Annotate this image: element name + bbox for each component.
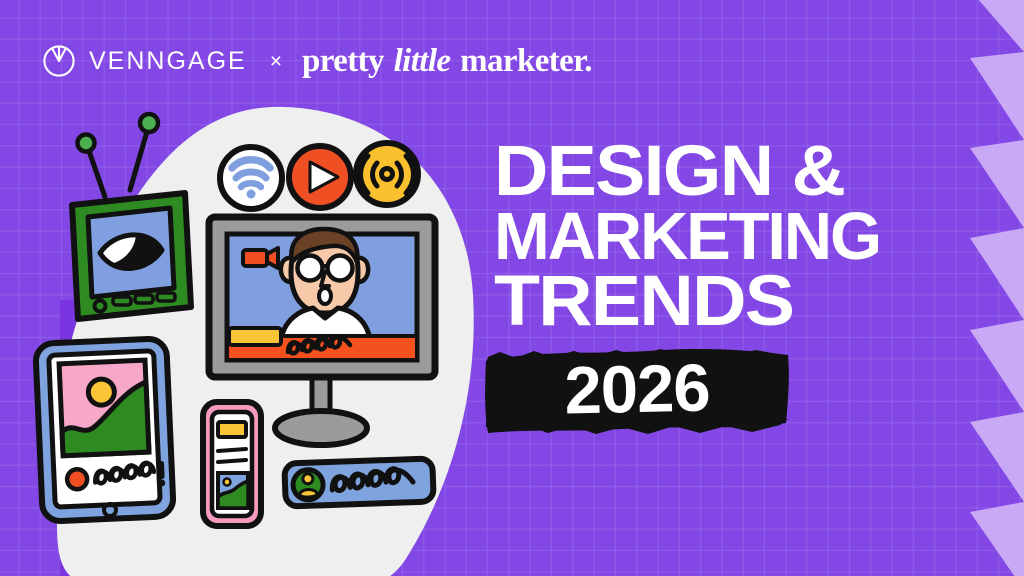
headline-line-1: DESIGN & — [494, 140, 992, 204]
phone-text-line-1 — [218, 449, 246, 451]
tablet-device — [35, 338, 174, 522]
year-badge: 2026 — [482, 339, 792, 437]
wifi-badge — [220, 147, 282, 209]
pretty-little-marketer-wordmark: pretty little marketer. — [302, 45, 592, 78]
phone-headline-bar — [218, 422, 246, 437]
venngage-wordmark: VENNGAGE — [89, 49, 247, 74]
record-dot — [67, 469, 88, 490]
year-label: 2026 — [481, 353, 792, 426]
comment-input-bar[interactable] — [284, 458, 433, 506]
collab-x-icon: × — [270, 51, 282, 72]
phone-text-line-2 — [218, 460, 246, 462]
device-collage-illustration — [0, 0, 520, 576]
plm-italic-word: little — [392, 43, 453, 79]
progress-indicator — [229, 328, 281, 345]
headline-line-3: TRENDS — [494, 270, 992, 334]
video-camera-icon — [243, 248, 278, 268]
play-badge — [289, 146, 351, 208]
venngage-circle-pie-icon — [42, 44, 76, 78]
user-avatar-icon — [293, 469, 324, 500]
poster-canvas: VENNGAGE × pretty little marketer. DESIG… — [0, 0, 1024, 576]
brand-header: VENNGAGE × pretty little marketer. — [42, 38, 592, 84]
plm-part-2: marketer. — [452, 43, 591, 79]
image-thumbnail-icon — [218, 473, 248, 508]
headline-block: DESIGN & MARKETING TRENDS 2026 — [494, 140, 964, 437]
plm-part-1: pretty — [302, 43, 392, 79]
person-avatar — [281, 229, 370, 340]
phone-device — [203, 402, 261, 526]
headline-line-2: MARKETING — [494, 207, 964, 267]
landscape-photo-icon — [59, 360, 149, 456]
podcast-badge — [356, 143, 418, 205]
retro-tv — [72, 114, 191, 319]
